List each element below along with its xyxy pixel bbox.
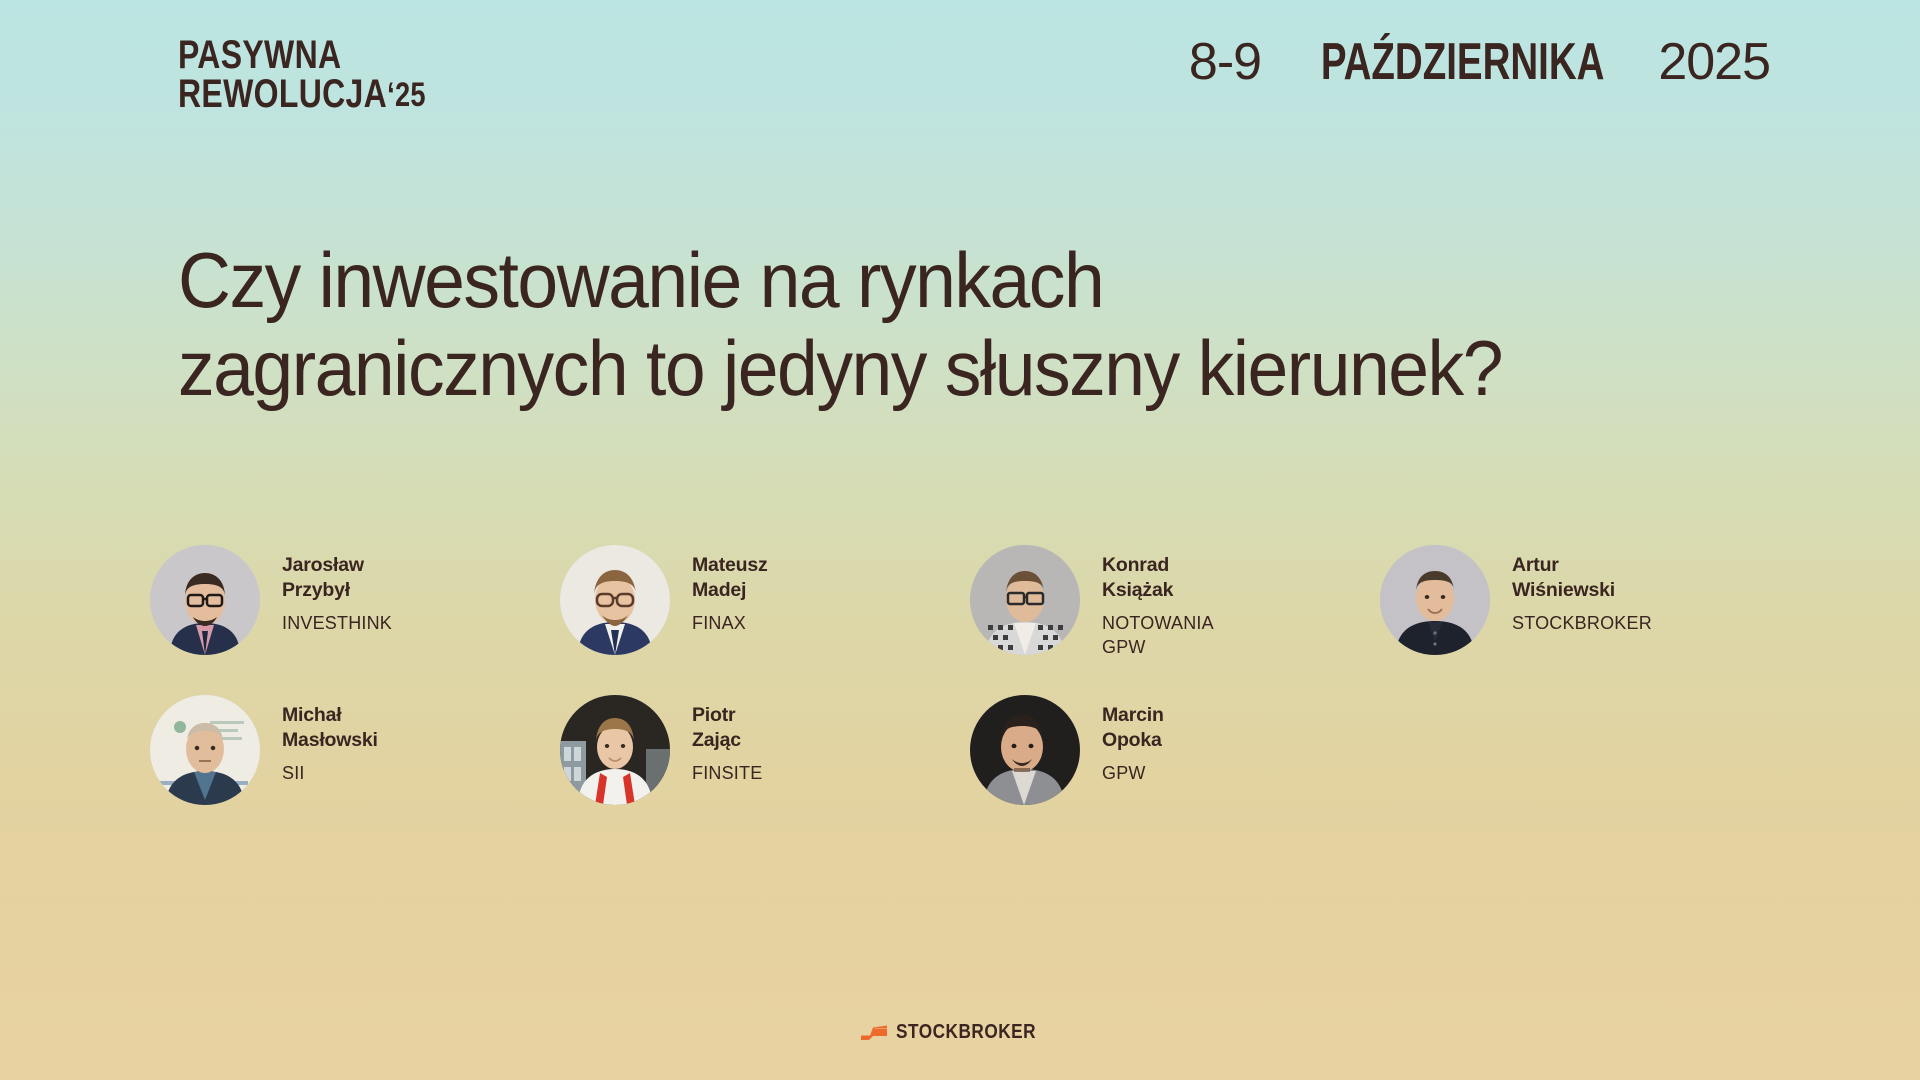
- speaker-row-1: Jarosław Przybył INVESTHINK: [150, 545, 1790, 659]
- speaker-info: Piotr Zając FINSITE: [692, 695, 762, 786]
- page-title-line2: zagranicznych to jedyny słuszny kierunek…: [178, 324, 1720, 412]
- avatar: [1380, 545, 1490, 655]
- speaker-card[interactable]: Konrad Książak NOTOWANIA GPW: [970, 545, 1380, 659]
- avatar: [150, 545, 260, 655]
- speaker-card[interactable]: Marcin Opoka GPW: [970, 695, 1380, 805]
- speaker-name: Piotr Zając: [692, 703, 762, 753]
- speaker-info: Jarosław Przybył INVESTHINK: [282, 545, 392, 636]
- avatar-portrait-icon: [560, 695, 670, 805]
- speaker-info: Marcin Opoka GPW: [1102, 695, 1164, 786]
- speaker-info: Konrad Książak NOTOWANIA GPW: [1102, 545, 1214, 659]
- avatar-portrait-icon: [560, 545, 670, 655]
- speaker-info: Michał Masłowski SII: [282, 695, 378, 786]
- speaker-name: Michał Masłowski: [282, 703, 378, 753]
- avatar: [560, 695, 670, 805]
- speaker-card[interactable]: Michał Masłowski SII: [150, 695, 560, 805]
- avatar: [560, 545, 670, 655]
- speaker-org: STOCKBROKER: [1512, 612, 1652, 636]
- speaker-org: FINSITE: [692, 762, 762, 786]
- speaker-org: FINAX: [692, 612, 768, 636]
- speaker-name: Marcin Opoka: [1102, 703, 1164, 753]
- speaker-card[interactable]: Piotr Zając FINSITE: [560, 695, 970, 805]
- event-date-days: 8-9: [1189, 36, 1261, 88]
- speaker-row-2: Michał Masłowski SII: [150, 695, 1790, 805]
- avatar: [150, 695, 260, 805]
- orange-arrow-icon: [861, 1025, 887, 1040]
- speaker-info: Mateusz Madej FINAX: [692, 545, 768, 636]
- speaker-org: INVESTHINK: [282, 612, 392, 636]
- event-date-month: PAŹDZIERNIKA: [1321, 36, 1605, 88]
- event-logo-line1: PASYWNA: [178, 36, 426, 75]
- page-title-line1: Czy inwestowanie na rynkach: [178, 236, 1720, 324]
- speaker-name: Mateusz Madej: [692, 553, 768, 603]
- avatar-portrait-icon: [1380, 545, 1490, 655]
- speaker-grid: Jarosław Przybył INVESTHINK: [150, 545, 1790, 805]
- speaker-card[interactable]: Artur Wiśniewski STOCKBROKER: [1380, 545, 1790, 655]
- header: PASYWNA REWOLUCJA‘25 8-9 PAŹDZIERNIKA 20…: [178, 36, 1770, 114]
- event-logo-line2: REWOLUCJA‘25: [178, 75, 426, 114]
- avatar: [970, 545, 1080, 655]
- event-logo-line2-word: REWOLUCJA: [178, 72, 387, 116]
- event-date-year: 2025: [1658, 36, 1770, 88]
- avatar: [970, 695, 1080, 805]
- avatar-portrait-icon: [150, 695, 260, 805]
- speaker-org: SII: [282, 762, 378, 786]
- speaker-name: Jarosław Przybył: [282, 553, 392, 603]
- event-logo-year-tick: ‘25: [387, 76, 426, 114]
- speaker-org: GPW: [1102, 762, 1164, 786]
- page-title: Czy inwestowanie na rynkach zagranicznyc…: [178, 236, 1720, 412]
- speaker-card[interactable]: Mateusz Madej FINAX: [560, 545, 970, 655]
- speaker-name: Artur Wiśniewski: [1512, 553, 1652, 603]
- event-date: 8-9 PAŹDZIERNIKA 2025: [1189, 36, 1770, 88]
- speaker-name: Konrad Książak: [1102, 553, 1214, 603]
- avatar-portrait-icon: [970, 695, 1080, 805]
- footer-logo-text: STOCKBROKER: [896, 1021, 1036, 1044]
- footer-logo[interactable]: STOCKBROKER: [0, 1021, 1920, 1044]
- avatar-portrait-icon: [970, 545, 1080, 655]
- speaker-org: NOTOWANIA GPW: [1102, 612, 1214, 660]
- speaker-card[interactable]: Jarosław Przybył INVESTHINK: [150, 545, 560, 655]
- speaker-info: Artur Wiśniewski STOCKBROKER: [1512, 545, 1652, 636]
- avatar-portrait-icon: [150, 545, 260, 655]
- event-logo: PASYWNA REWOLUCJA‘25: [178, 36, 426, 114]
